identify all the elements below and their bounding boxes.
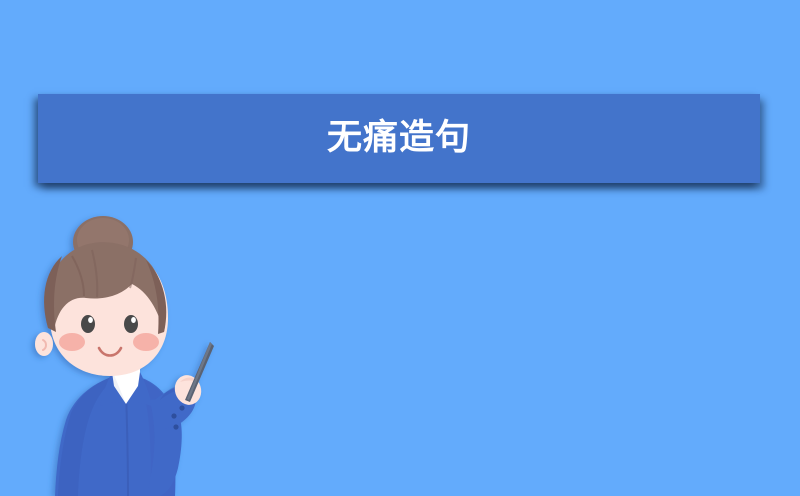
ear — [35, 332, 53, 356]
title-banner: 无痛造句 — [38, 94, 760, 183]
right-eye — [124, 315, 138, 333]
left-blush — [59, 333, 85, 351]
right-blush — [133, 333, 159, 351]
left-eye — [81, 315, 95, 333]
teacher-illustration — [0, 200, 300, 496]
page-root: 无痛造句 — [0, 0, 800, 496]
page-title: 无痛造句 — [327, 121, 471, 156]
